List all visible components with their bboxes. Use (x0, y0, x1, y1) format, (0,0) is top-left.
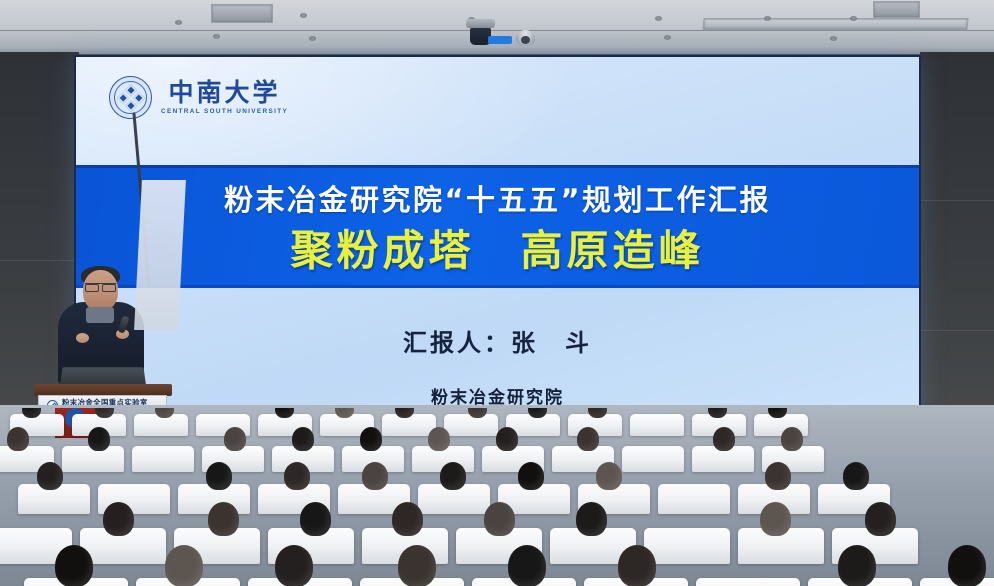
audience-chair (630, 414, 684, 436)
audience-person (518, 462, 544, 490)
audience-person (713, 427, 735, 451)
audience-person (224, 427, 246, 451)
university-emblem-icon (109, 76, 152, 119)
photo-scene: 中南大学 CENTRAL SOUTH UNIVERSITY 粉末冶金研究院“十五… (0, 0, 994, 586)
audience-person (284, 462, 310, 490)
audience-person (362, 462, 388, 490)
audience-person (360, 427, 382, 451)
audience-person (577, 427, 599, 451)
audience-person (781, 427, 803, 451)
audience-person (428, 427, 450, 451)
audience-chair (132, 446, 194, 472)
university-name-cn: 中南大学 (169, 80, 281, 106)
ceiling-vent-icon (211, 4, 273, 23)
speaker-collar (86, 307, 114, 323)
audience-person (88, 427, 110, 451)
audience-person (596, 462, 622, 490)
audience-person (508, 545, 546, 586)
audience-person (496, 427, 518, 451)
audience-person (392, 502, 423, 536)
audience-chair (444, 414, 498, 436)
audience-person (440, 462, 466, 490)
audience-person (765, 462, 791, 490)
audience-seating (0, 408, 994, 586)
audience-person (948, 545, 986, 586)
projection-screen: 中南大学 CENTRAL SOUTH UNIVERSITY 粉末冶金研究院“十五… (76, 57, 919, 453)
ceiling-vent-icon (873, 1, 920, 18)
audience-person (300, 502, 331, 536)
speaker-hand (76, 333, 89, 343)
slide-title-banner: 粉末冶金研究院“十五五”规划工作汇报 聚粉成塔 高原造峰 (76, 165, 919, 288)
audience-person (618, 545, 656, 586)
audience-chair (658, 484, 730, 514)
slide-title-line2: 聚粉成塔 高原造峰 (76, 217, 919, 278)
audience-person (760, 502, 791, 536)
audience-person (55, 545, 93, 586)
slide-title-line1: 粉末冶金研究院“十五五”规划工作汇报 (76, 177, 919, 219)
audience-person (576, 502, 607, 536)
presentation-slide: 中南大学 CENTRAL SOUTH UNIVERSITY 粉末冶金研究院“十五… (76, 57, 919, 453)
ceiling-projector-icon (470, 27, 491, 45)
audience-person (206, 462, 232, 490)
stage-cloth (134, 180, 186, 330)
audience-person (37, 462, 63, 490)
audience-person (398, 545, 436, 586)
audience-person (484, 502, 515, 536)
audience-person (843, 462, 869, 490)
audience-chair (696, 578, 800, 586)
audience-person (865, 502, 896, 536)
audience-person (103, 502, 134, 536)
slide-presenter: 汇报人：张 斗 (76, 323, 919, 358)
ceiling-linear-vent-icon (702, 18, 968, 30)
university-logo: 中南大学 CENTRAL SOUTH UNIVERSITY (109, 76, 288, 119)
audience-chair (622, 446, 684, 472)
audience-chair (644, 528, 730, 564)
audience-person (7, 427, 29, 451)
audience-person (838, 545, 876, 586)
audience-person (208, 502, 239, 536)
glasses-icon (85, 283, 116, 289)
audience-person (292, 427, 314, 451)
audience-person (275, 545, 313, 586)
audience-person (165, 545, 203, 586)
university-name-en: CENTRAL SOUTH UNIVERSITY (161, 108, 288, 115)
ceiling-dome-camera-icon (516, 30, 535, 46)
ceiling (0, 0, 994, 60)
